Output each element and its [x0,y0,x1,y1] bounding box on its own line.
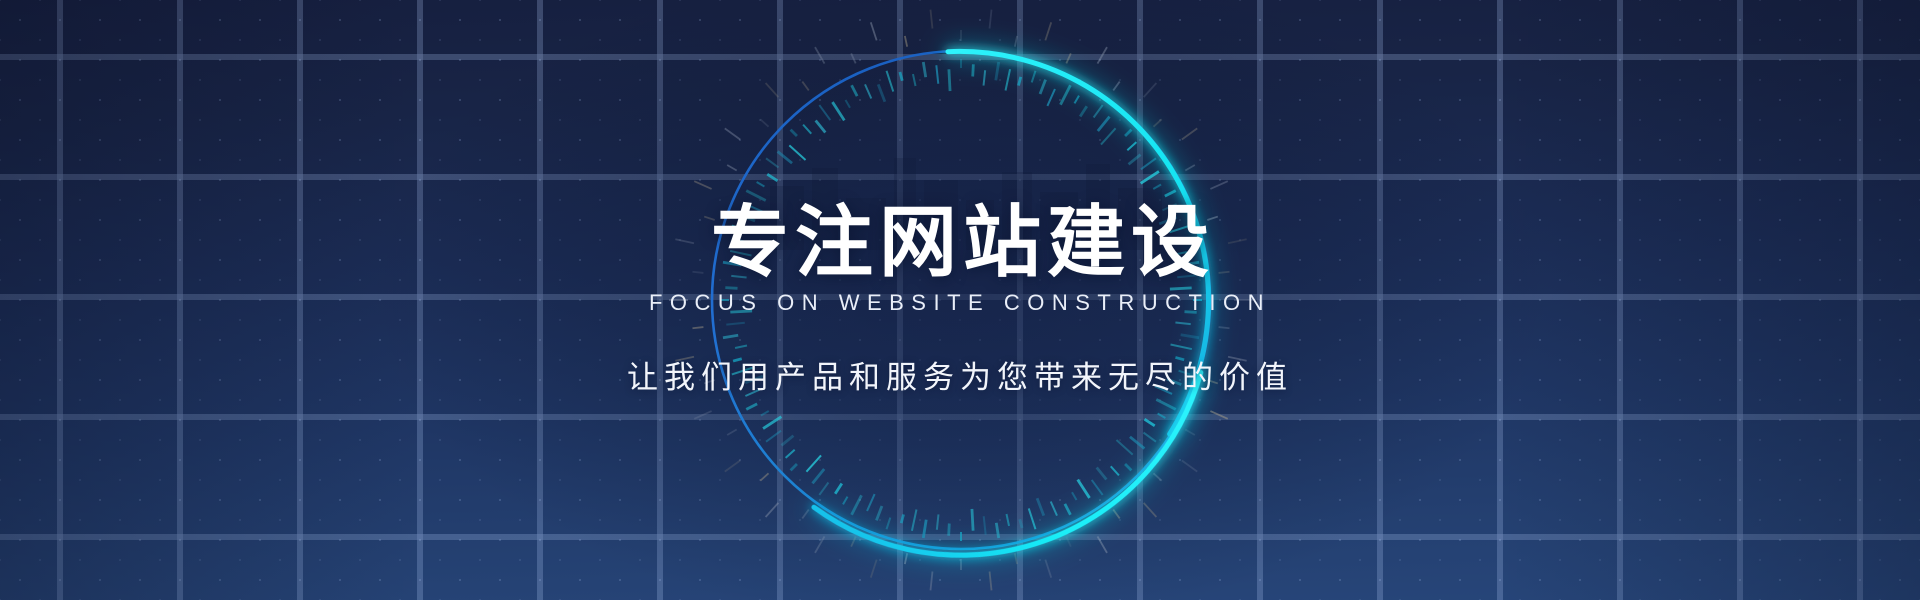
subtitle-chinese: 让我们用产品和服务为您带来无尽的价值 [627,352,1293,397]
subtitle-english: FOCUS ON WEBSITE CONSTRUCTION [649,290,1271,316]
hero-text-block: 专注网站建设 FOCUS ON WEBSITE CONSTRUCTION 让我们… [0,0,1920,600]
banner-stage: 专注网站建设 FOCUS ON WEBSITE CONSTRUCTION 让我们… [0,0,1920,600]
page-title: 专注网站建设 [711,204,1215,282]
